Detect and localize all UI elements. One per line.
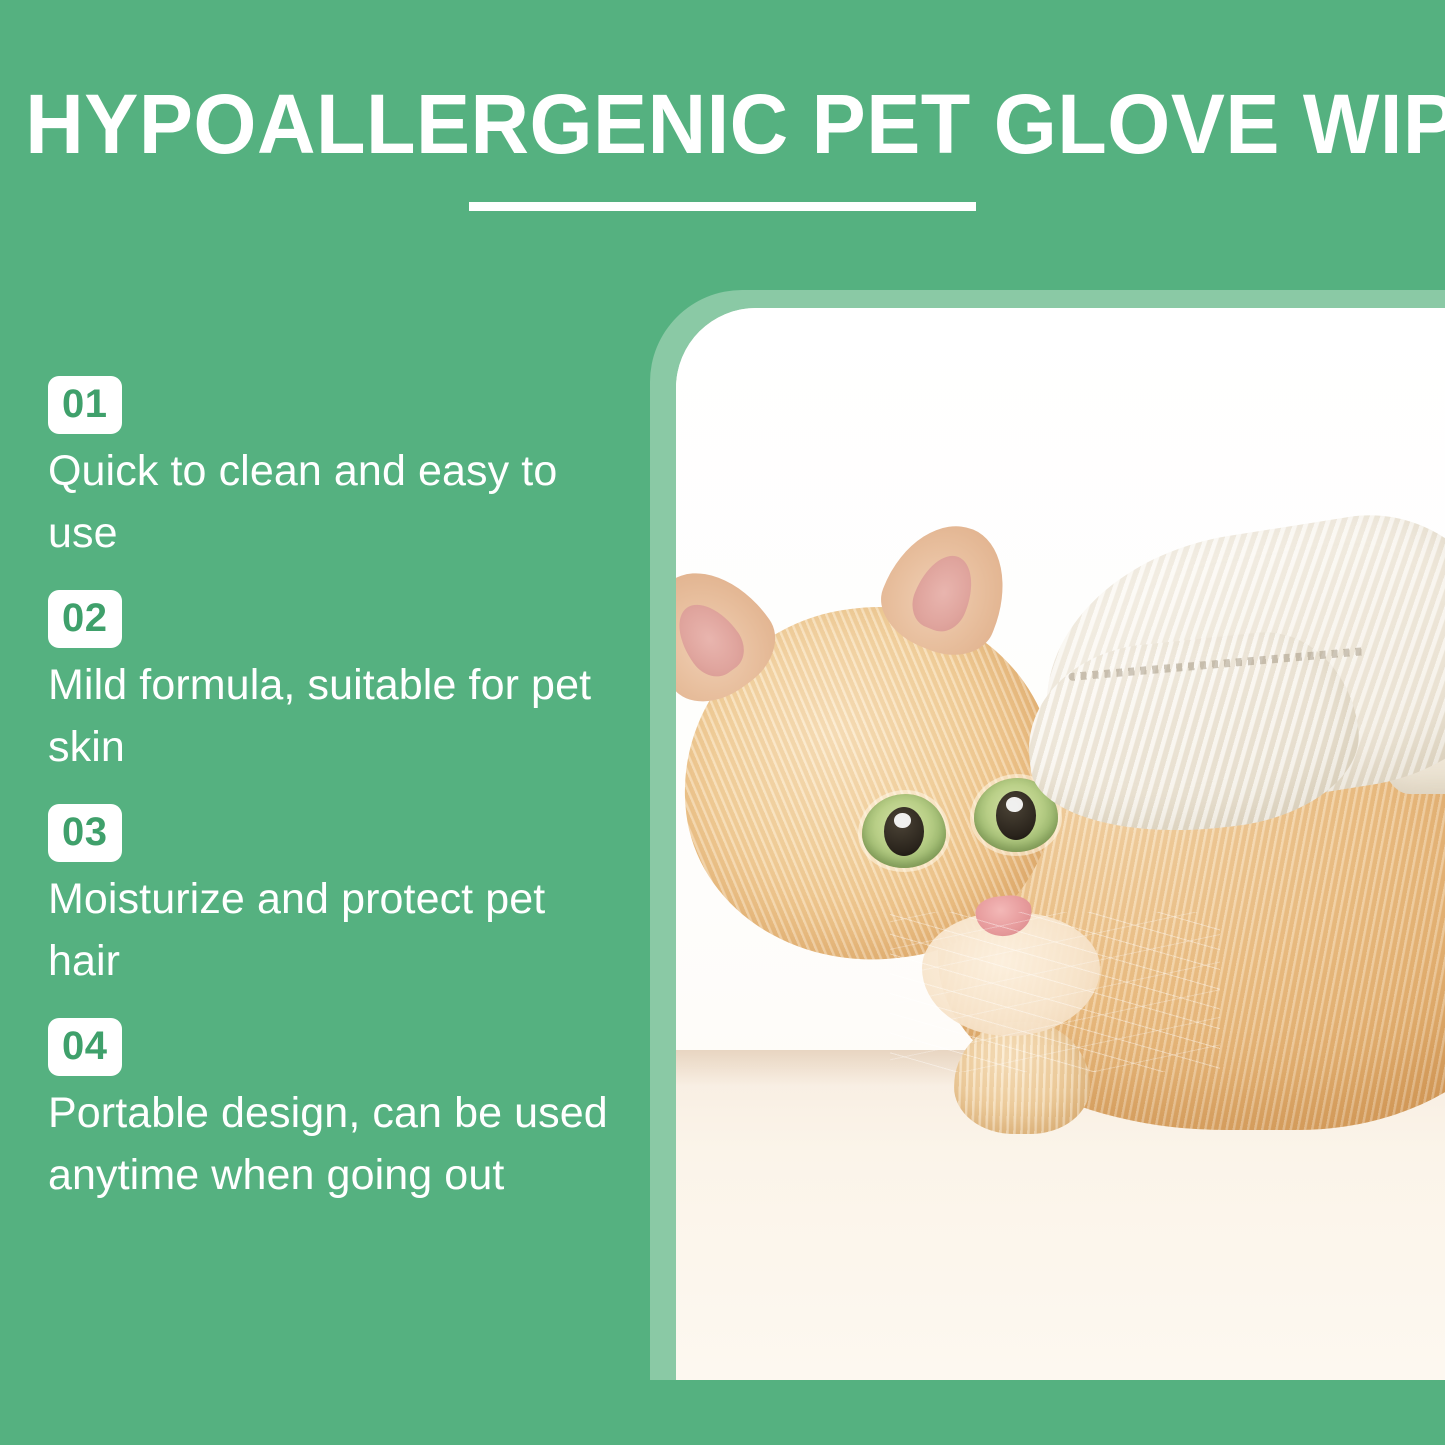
feature-text-01: Quick to clean and easy to use: [48, 440, 618, 564]
feature-list: 01 Quick to clean and easy to use 02 Mil…: [48, 376, 618, 1232]
cat-paw: [954, 1022, 1090, 1134]
cat-ear-inner-left: [676, 592, 754, 686]
cat-eye-glint-left: [894, 813, 911, 828]
feature-badge-01: 01: [48, 376, 122, 434]
list-item: 04 Portable design, can be used anytime …: [48, 1018, 618, 1206]
product-photo-panel: [650, 290, 1445, 1380]
title-divider: [469, 202, 976, 211]
page-title: HYPOALLERGENIC PET GLOVE WIPES: [25, 78, 1419, 170]
cat-eye-glint-right: [1006, 797, 1023, 812]
list-item: 02 Mild formula, suitable for pet skin: [48, 590, 618, 778]
feature-text-02: Mild formula, suitable for pet skin: [48, 654, 618, 778]
feature-badge-03: 03: [48, 804, 122, 862]
photo-scene: [676, 308, 1445, 1380]
feature-badge-04: 04: [48, 1018, 122, 1076]
feature-text-03: Moisturize and protect pet hair: [48, 868, 618, 992]
list-item: 01 Quick to clean and easy to use: [48, 376, 618, 564]
cat-paw-fur: [954, 1022, 1090, 1134]
feature-badge-02: 02: [48, 590, 122, 648]
list-item: 03 Moisturize and protect pet hair: [48, 804, 618, 992]
poster-header: HYPOALLERGENIC PET GLOVE WIPES: [0, 0, 1445, 250]
product-photo: [676, 308, 1445, 1380]
product-poster: HYPOALLERGENIC PET GLOVE WIPES 01 Quick …: [0, 0, 1445, 1445]
cat-ear-inner-right: [904, 547, 983, 639]
feature-text-04: Portable design, can be used anytime whe…: [48, 1082, 618, 1206]
cat-eye-left: [862, 794, 946, 868]
